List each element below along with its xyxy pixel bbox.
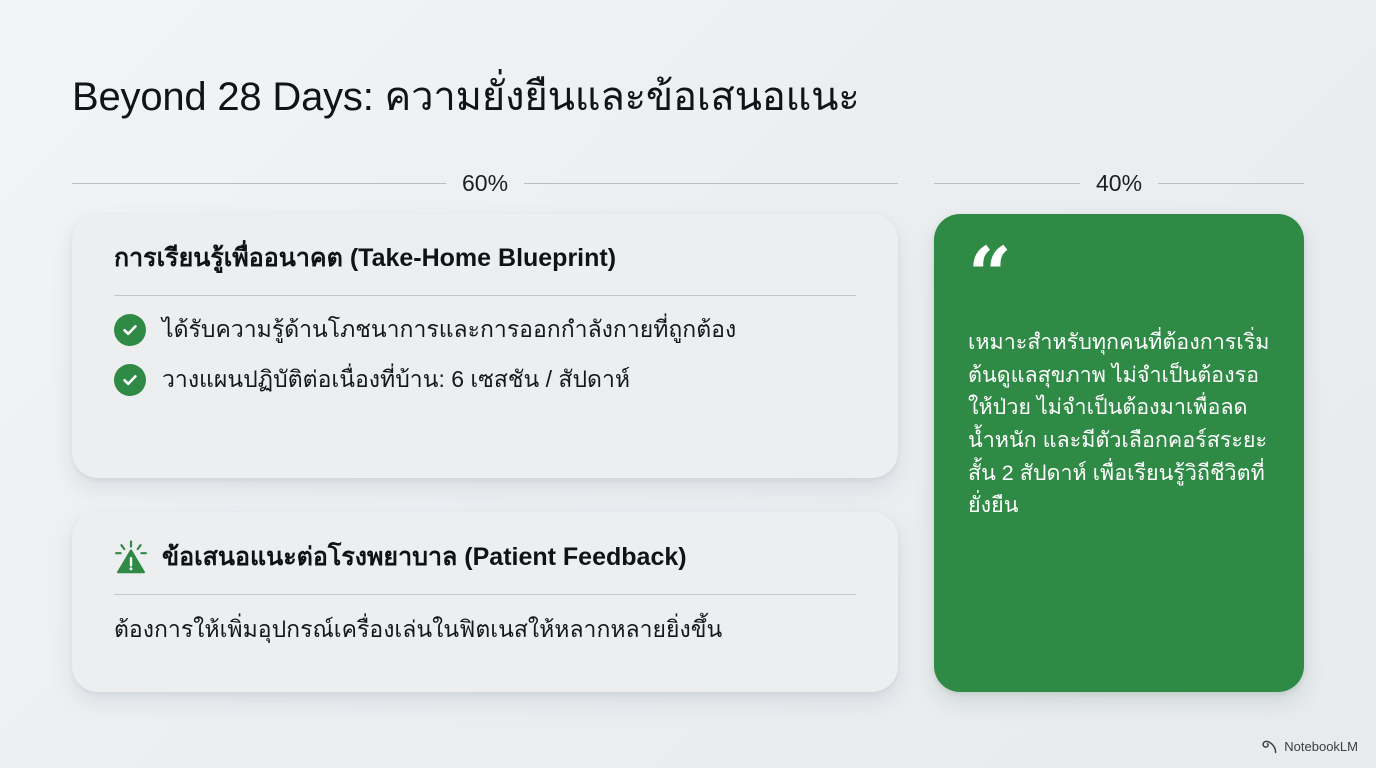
- quote-mark-icon: “: [968, 248, 1270, 310]
- card-heading-blueprint: การเรียนรู้เพื่ออนาคต (Take-Home Bluepri…: [114, 242, 856, 275]
- card-divider: [114, 295, 856, 296]
- alert-triangle-icon: [114, 540, 148, 574]
- ruler-line-left: [72, 183, 446, 184]
- blueprint-check-list: ได้รับความรู้ด้านโภชนาการและการออกกำลังก…: [114, 314, 856, 396]
- list-item: วางแผนปฏิบัติต่อเนื่องที่บ้าน: 6 เซสชัน …: [114, 364, 856, 396]
- check-circle-icon: [114, 364, 146, 396]
- quote-text: เหมาะสำหรับทุกคนที่ต้องการเริ่มต้นดูแลสุ…: [968, 326, 1270, 522]
- column-ruler-left: 60%: [72, 170, 898, 196]
- ruler-line-right: [1158, 183, 1304, 184]
- card-heading-text: การเรียนรู้เพื่ออนาคต (Take-Home Bluepri…: [114, 242, 616, 275]
- card-heading-text: ข้อเสนอแนะต่อโรงพยาบาล (Patient Feedback…: [162, 541, 687, 574]
- ruler-line-left: [934, 183, 1080, 184]
- feedback-body-text: ต้องการให้เพิ่มอุปกรณ์เครื่องเล่นในฟิตเน…: [114, 613, 856, 645]
- percent-label-40: 40%: [1094, 172, 1144, 195]
- ruler-line-right: [524, 183, 898, 184]
- card-heading-feedback: ข้อเสนอแนะต่อโรงพยาบาล (Patient Feedback…: [114, 540, 856, 574]
- quote-card: “ เหมาะสำหรับทุกคนที่ต้องการเริ่มต้นดูแล…: [934, 214, 1304, 692]
- card-take-home-blueprint: การเรียนรู้เพื่ออนาคต (Take-Home Bluepri…: [72, 214, 898, 478]
- notebooklm-logo-icon: [1262, 740, 1278, 754]
- check-circle-icon: [114, 314, 146, 346]
- list-item-label: วางแผนปฏิบัติต่อเนื่องที่บ้าน: 6 เซสชัน …: [162, 364, 630, 395]
- notebooklm-watermark: NotebookLM: [1262, 739, 1358, 754]
- watermark-label: NotebookLM: [1284, 739, 1358, 754]
- card-divider: [114, 594, 856, 595]
- card-patient-feedback: ข้อเสนอแนะต่อโรงพยาบาล (Patient Feedback…: [72, 512, 898, 692]
- list-item-label: ได้รับความรู้ด้านโภชนาการและการออกกำลังก…: [162, 314, 736, 345]
- column-ruler-right: 40%: [934, 170, 1304, 196]
- list-item: ได้รับความรู้ด้านโภชนาการและการออกกำลังก…: [114, 314, 856, 346]
- percent-label-60: 60%: [460, 172, 510, 195]
- page-title: Beyond 28 Days: ความยั่งยืนและข้อเสนอแนะ: [72, 72, 860, 122]
